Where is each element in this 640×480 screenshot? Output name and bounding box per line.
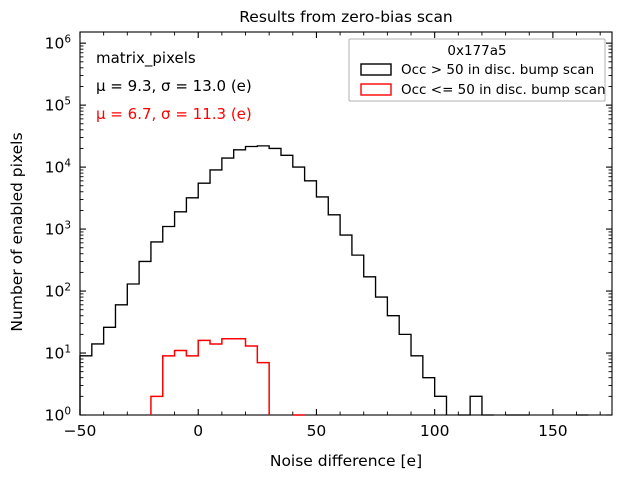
- page-title: Results from zero-bias scan: [239, 8, 453, 26]
- legend-entry-0-label: Occ > 50 in disc. bump scan: [401, 62, 594, 78]
- figure-container: Results from zero-bias scan Number of en…: [0, 0, 640, 480]
- x-tick-label: 150: [538, 422, 568, 440]
- histogram-plot: Results from zero-bias scan Number of en…: [0, 0, 640, 480]
- legend-entry-1-label: Occ <= 50 in disc. bump scan: [401, 82, 606, 98]
- x-axis-label: Noise difference [e]: [270, 452, 422, 470]
- x-tick-label: 50: [307, 422, 327, 440]
- legend: 0x177a5 Occ > 50 in disc. bump scan Occ …: [349, 39, 606, 101]
- stats-red-label: μ = 6.7, σ = 11.3 (e): [96, 105, 252, 123]
- x-tick-label: 0: [193, 422, 203, 440]
- dataset-label: matrix_pixels: [96, 49, 196, 68]
- y-axis-label: Number of enabled pixels: [8, 132, 26, 331]
- x-tick-label: 100: [420, 422, 450, 440]
- stats-black-label: μ = 9.3, σ = 13.0 (e): [96, 77, 252, 95]
- x-tick-label: −50: [64, 422, 97, 440]
- legend-title: 0x177a5: [447, 43, 506, 59]
